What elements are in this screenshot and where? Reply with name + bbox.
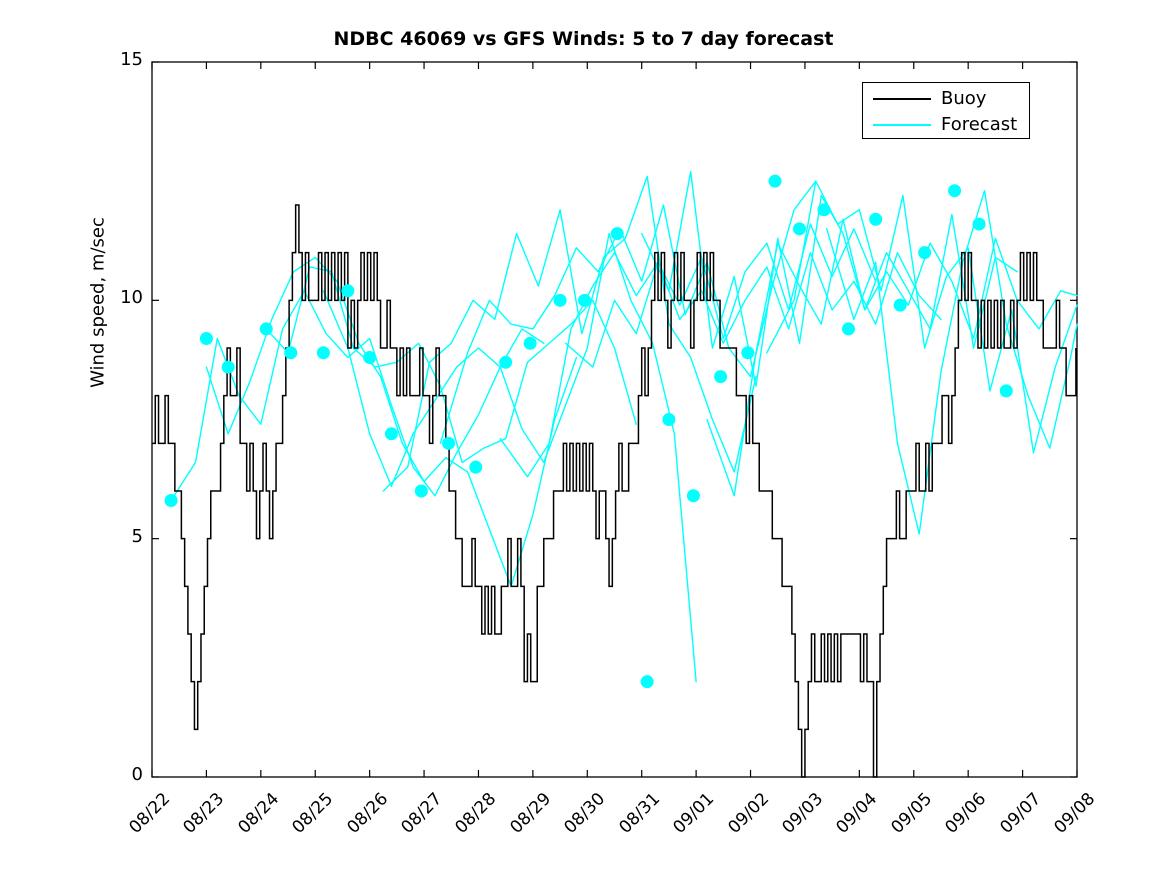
legend-item[interactable]: Forecast [863,112,1031,138]
legend-swatch-buoy [873,98,931,100]
chart-legend: BuoyForecast [862,82,1030,139]
legend-item[interactable]: Buoy [863,86,1031,112]
x-tick-label: 08/22 [75,789,174,888]
legend-label: Buoy [941,86,986,112]
legend-swatch-forecast [873,124,931,126]
legend-label: Forecast [941,112,1017,138]
chart-figure: NDBC 46069 vs GFS Winds: 5 to 7 day fore… [0,0,1167,875]
